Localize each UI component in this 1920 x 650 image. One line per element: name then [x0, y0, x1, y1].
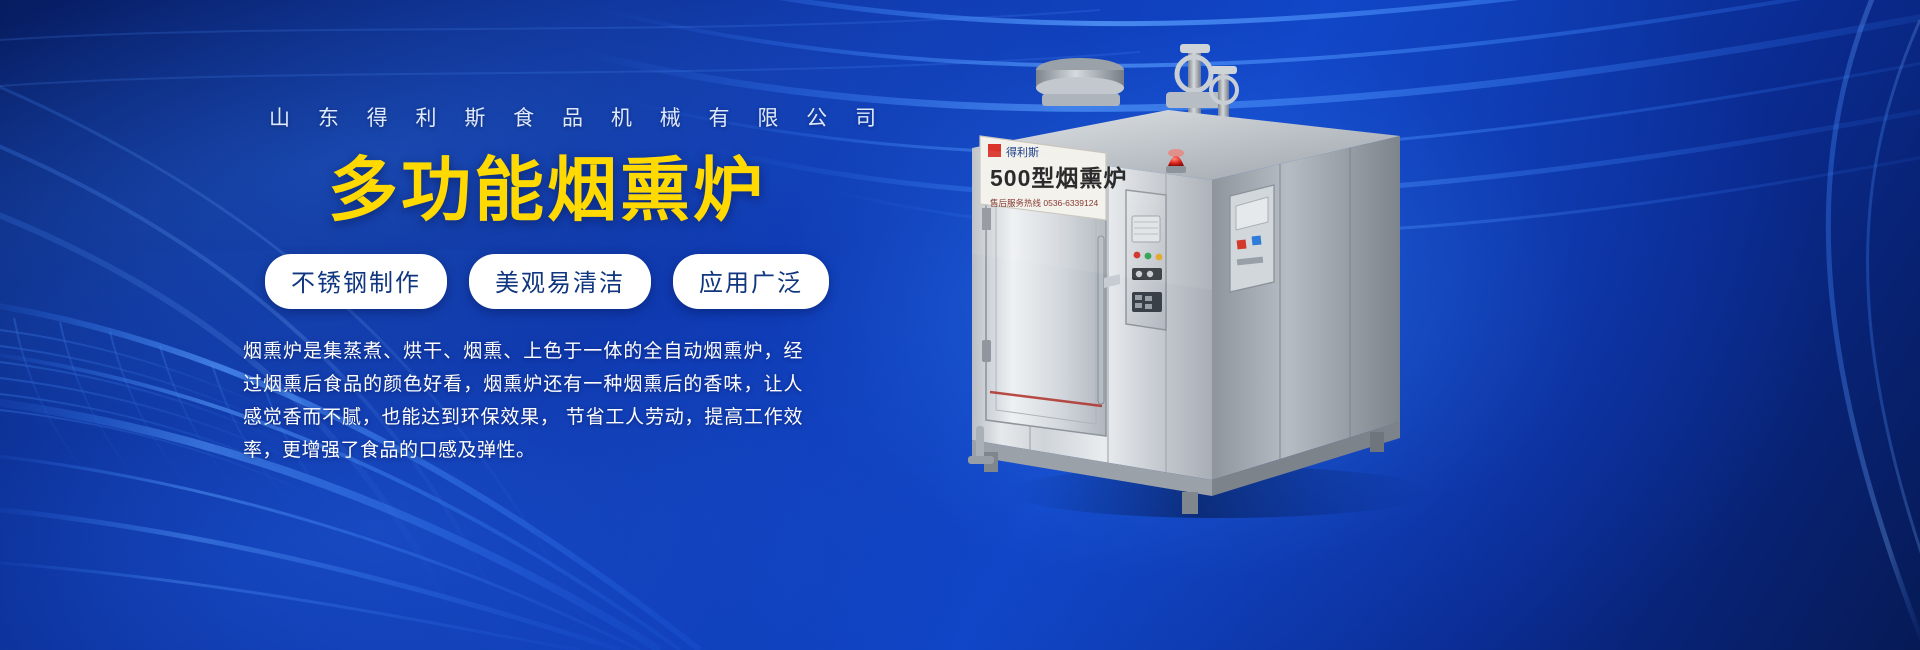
product-photo-smokehouse-oven: 得利斯 500型烟熏炉 售后服务热线 0536-6339124 [930, 40, 1490, 540]
feature-pill-wide-use[interactable]: 应用广泛 [673, 254, 829, 309]
page-title: 多功能烟熏炉 [243, 154, 843, 228]
company-name: 山 东 得 利 斯 食 品 机 械 有 限 公 司 [243, 102, 843, 132]
hero-banner: 山 东 得 利 斯 食 品 机 械 有 限 公 司 多功能烟熏炉 不锈钢制作 美… [0, 0, 1920, 650]
feature-pill-easy-clean[interactable]: 美观易清洁 [469, 254, 651, 309]
product-description: 烟熏炉是集蒸煮、烘干、烟熏、上色于一体的全自动烟熏炉，经过烟熏后食品的颜色好看，… [243, 335, 803, 468]
electrical-box [1230, 185, 1274, 292]
feature-pill-stainless[interactable]: 不锈钢制作 [265, 254, 447, 309]
oven-side-face [1212, 136, 1400, 480]
banner-content: 山 东 得 利 斯 食 品 机 械 有 限 公 司 多功能烟熏炉 不锈钢制作 美… [243, 102, 843, 468]
feature-pill-list: 不锈钢制作 美观易清洁 应用广泛 [243, 254, 843, 309]
